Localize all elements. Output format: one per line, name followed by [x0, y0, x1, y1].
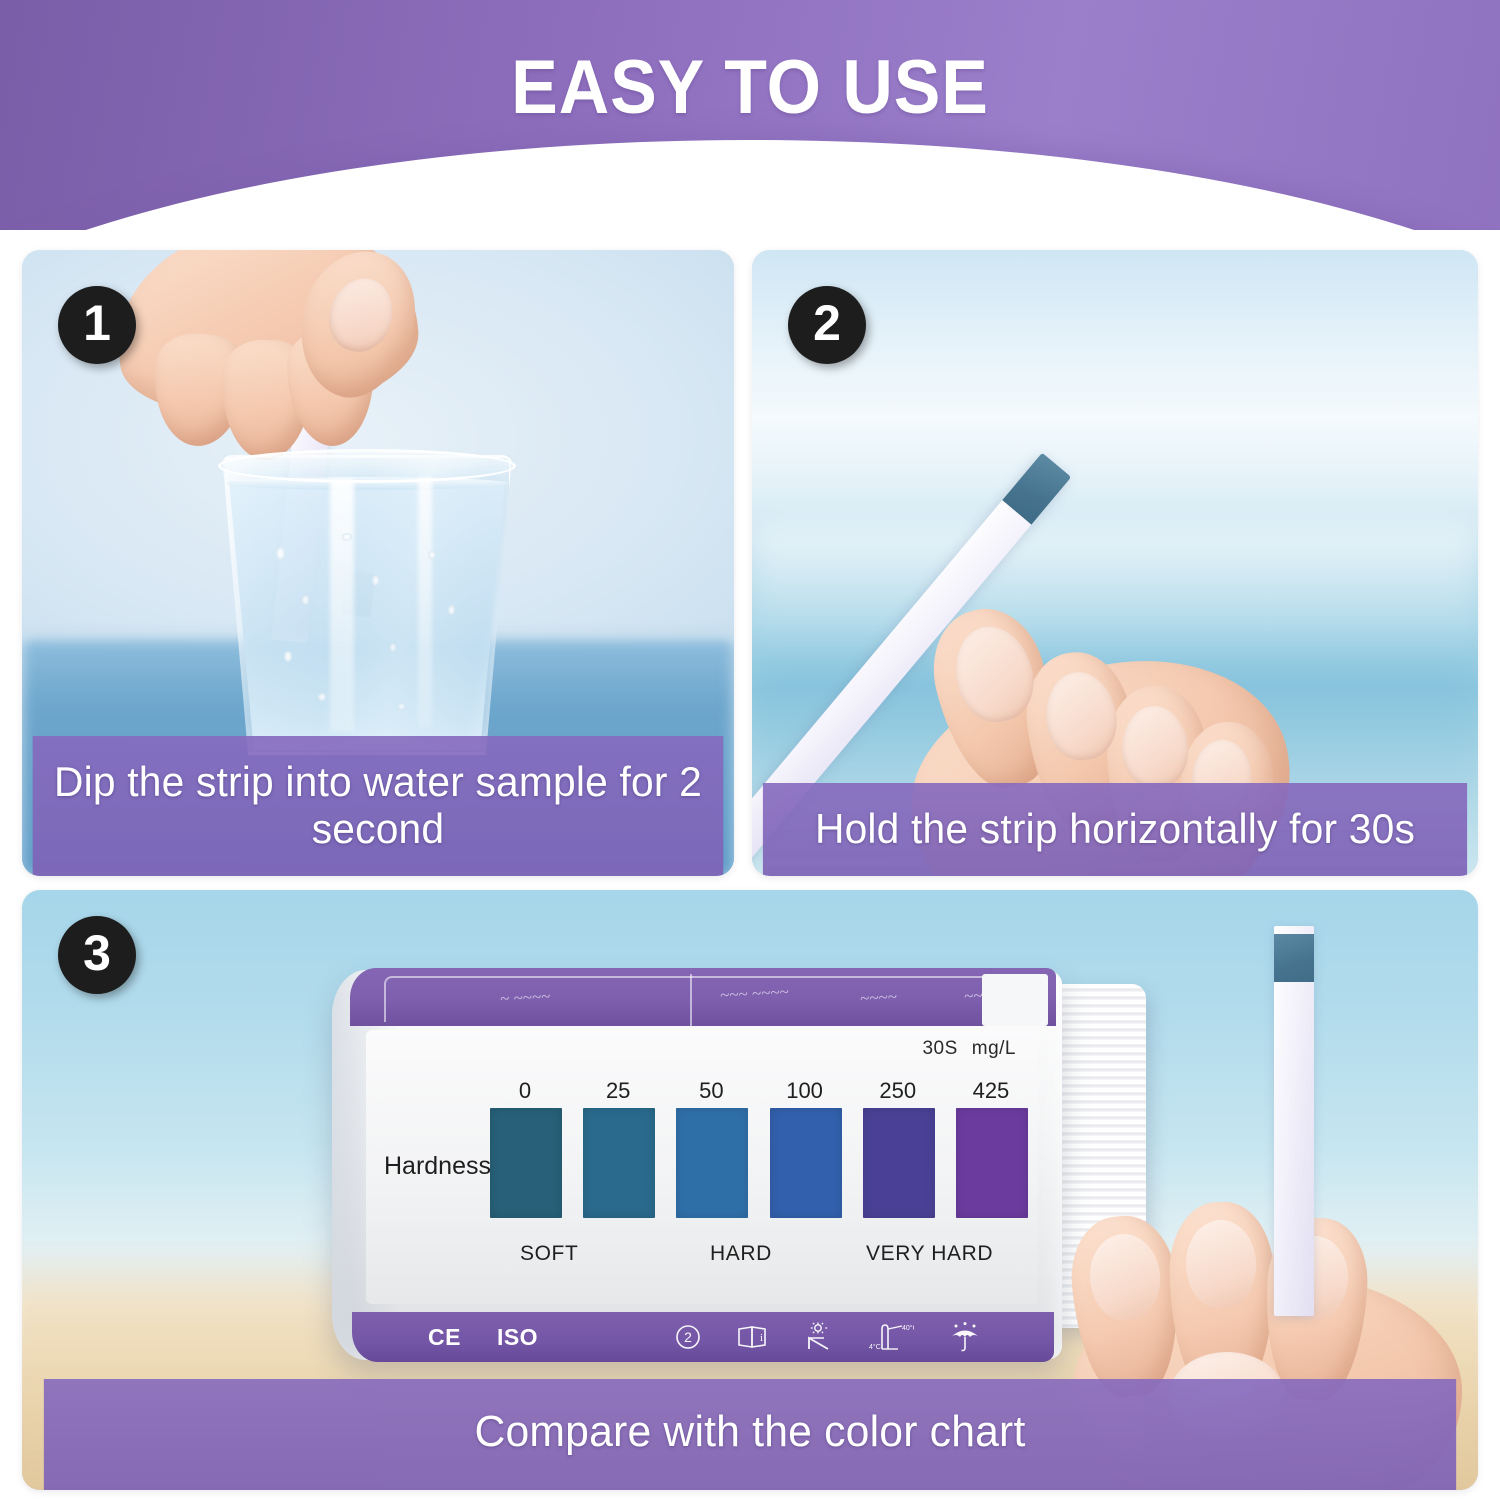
bottle-label-face: 30Smg/L Hardness 0 25	[366, 1030, 1038, 1304]
unit-value: mg/L	[972, 1038, 1016, 1059]
color-chart-swatch-row: 0 25 50 100	[488, 1080, 1028, 1240]
glass-rim	[218, 449, 516, 483]
symbol-icon-row: 2 i 40°C4°C	[674, 1322, 982, 1352]
swatch-cell: 50	[674, 1080, 748, 1240]
fingernail	[1185, 1219, 1257, 1308]
step-card-1[interactable]: 1 Dip the strip into water sample for 2 …	[22, 250, 734, 876]
test-strip-pad-2	[1002, 453, 1071, 525]
water-glass	[222, 455, 512, 755]
step-caption-2: Hold the strip horizontally for 30s	[763, 783, 1467, 876]
step-card-2[interactable]: 2 Hold the strip horizontally for 30s	[752, 250, 1478, 876]
glass-highlight	[418, 477, 432, 727]
step-number-badge-2: 2	[788, 286, 866, 364]
keep-dry-umbrella-icon	[948, 1322, 982, 1352]
band-label-hard: HARD	[710, 1242, 772, 1266]
bubble	[284, 651, 292, 662]
bubble	[318, 693, 326, 701]
bubble	[372, 575, 379, 586]
header-curve-decoration	[0, 140, 1500, 230]
swatch-value: 250	[861, 1078, 935, 1104]
temperature-limit-icon: 40°C4°C	[868, 1323, 914, 1351]
swatch-cell: 25	[581, 1080, 655, 1240]
bubble	[390, 643, 396, 652]
page-title: EASY TO USE	[60, 44, 1440, 131]
bottle-bottom-band: CE ISO 2 i	[352, 1312, 1054, 1362]
step-number-badge-3: 3	[58, 916, 136, 994]
band-print-text: ~ ~~~~	[500, 987, 551, 1010]
test-strip-bottle: ~ ~~~~ ~~~ ~~~~ ~~~~ ~~~ 30Smg/L Hardnes…	[332, 970, 1112, 1360]
band-outline	[384, 976, 1040, 1022]
glass-water	[229, 481, 505, 750]
consult-instructions-icon: i	[736, 1324, 770, 1350]
svg-text:40°C: 40°C	[902, 1324, 914, 1332]
swatch-value: 25	[581, 1078, 655, 1104]
swatch-color	[676, 1108, 748, 1218]
swatch-value: 100	[768, 1078, 842, 1104]
step-caption-3: Compare with the color chart	[44, 1379, 1456, 1490]
glass-highlight	[330, 479, 354, 731]
circled-2-icon: 2	[674, 1323, 702, 1351]
step-caption-1: Dip the strip into water sample for 2 se…	[33, 736, 724, 876]
ce-mark: CE	[428, 1324, 461, 1351]
bottle-body: ~ ~~~~ ~~~ ~~~~ ~~~~ ~~~ 30Smg/L Hardnes…	[332, 970, 1062, 1360]
svg-text:i: i	[760, 1332, 763, 1344]
keep-away-from-sunlight-icon	[804, 1322, 834, 1352]
bottle-top-band: ~ ~~~~ ~~~ ~~~~ ~~~~ ~~~	[350, 968, 1056, 1026]
step-number-badge-1: 1	[58, 286, 136, 364]
band-label-soft: SOFT	[520, 1242, 578, 1266]
bubble	[428, 551, 436, 559]
svg-text:4°C: 4°C	[869, 1343, 881, 1351]
bubble	[398, 703, 405, 710]
read-time-value: 30S	[922, 1038, 957, 1059]
hardness-row-label: Hardness	[384, 1152, 491, 1181]
band-white-square	[982, 974, 1048, 1026]
iso-mark: ISO	[497, 1324, 538, 1351]
swatch-color	[863, 1108, 935, 1218]
test-strip-3	[1274, 926, 1314, 1316]
swatch-cell: 100	[768, 1080, 842, 1240]
unit-line: 30Smg/L	[922, 1038, 1016, 1060]
swatch-cell: 425	[954, 1080, 1028, 1240]
band-print-text: ~~~~	[860, 987, 898, 1009]
swatch-color	[583, 1108, 655, 1218]
bubble	[342, 533, 352, 541]
swatch-color	[956, 1108, 1028, 1218]
step-card-3[interactable]: ~ ~~~~ ~~~ ~~~~ ~~~~ ~~~ 30Smg/L Hardnes…	[22, 890, 1478, 1490]
swatch-value: 0	[488, 1078, 562, 1104]
bubble	[448, 605, 455, 615]
swatch-cell: 0	[488, 1080, 562, 1240]
bubble	[276, 547, 285, 560]
svg-text:2: 2	[684, 1329, 692, 1345]
swatch-value: 50	[674, 1078, 748, 1104]
hardness-band-labels: SOFT HARD VERY HARD	[488, 1242, 1048, 1274]
test-strip-pad-3	[1274, 934, 1314, 982]
band-divider	[690, 974, 692, 1026]
page-header: EASY TO USE	[0, 0, 1500, 230]
band-print-text: ~~~ ~~~~	[720, 982, 790, 1006]
steps-grid: 1 Dip the strip into water sample for 2 …	[0, 240, 1500, 1500]
swatch-cell: 250	[861, 1080, 935, 1240]
swatch-value: 425	[954, 1078, 1028, 1104]
swatch-color	[770, 1108, 842, 1218]
bubble	[302, 595, 309, 605]
swatch-color	[490, 1108, 562, 1218]
band-label-very-hard: VERY HARD	[866, 1242, 993, 1266]
